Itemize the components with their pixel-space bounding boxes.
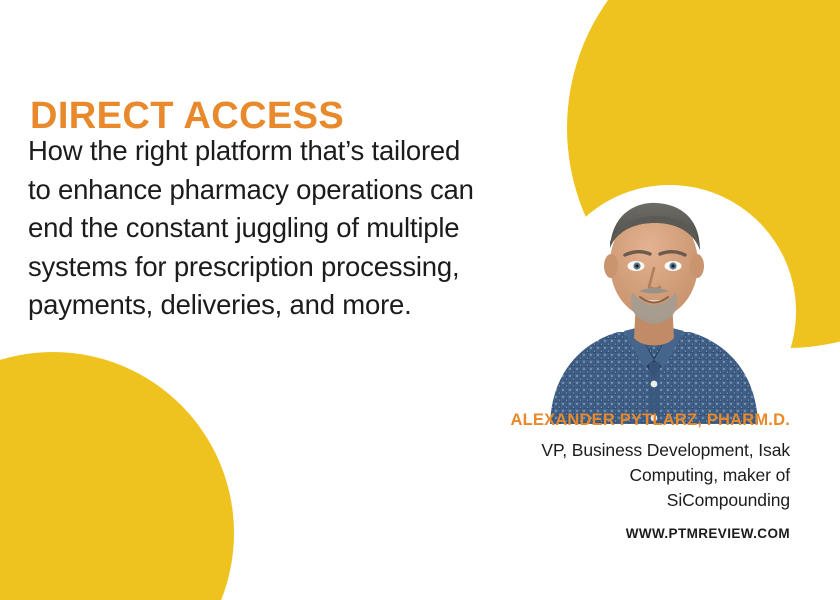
speaker-name: ALEXANDER PYTLARZ, PHARM.D.	[370, 409, 790, 431]
portrait-illustration	[540, 192, 768, 424]
body-line-5: payments, deliveries, and more.	[28, 286, 568, 325]
body-line-3: end the constant juggling of multiple	[28, 209, 568, 248]
body-line-1: How the right platform that’s tailored	[28, 132, 568, 171]
slide-canvas: DIRECT ACCESS How the right platform tha…	[0, 0, 840, 600]
body-copy: How the right platform that’s tailored t…	[28, 132, 568, 325]
body-line-4: systems for prescription processing,	[28, 248, 568, 287]
speaker-role-line-2: Computing, maker of	[370, 463, 790, 488]
speaker-role-line-3: SiCompounding	[370, 488, 790, 513]
speaker-role: VP, Business Development, Isak Computing…	[370, 438, 790, 513]
body-line-2: to enhance pharmacy operations can	[28, 171, 568, 210]
speaker-role-line-1: VP, Business Development, Isak	[370, 438, 790, 463]
site-url: WWW.PTMREVIEW.COM	[626, 526, 790, 541]
speaker-portrait	[540, 192, 768, 424]
yellow-circle-bottom-left	[0, 352, 234, 600]
speaker-attribution: ALEXANDER PYTLARZ, PHARM.D. VP, Business…	[370, 409, 790, 513]
